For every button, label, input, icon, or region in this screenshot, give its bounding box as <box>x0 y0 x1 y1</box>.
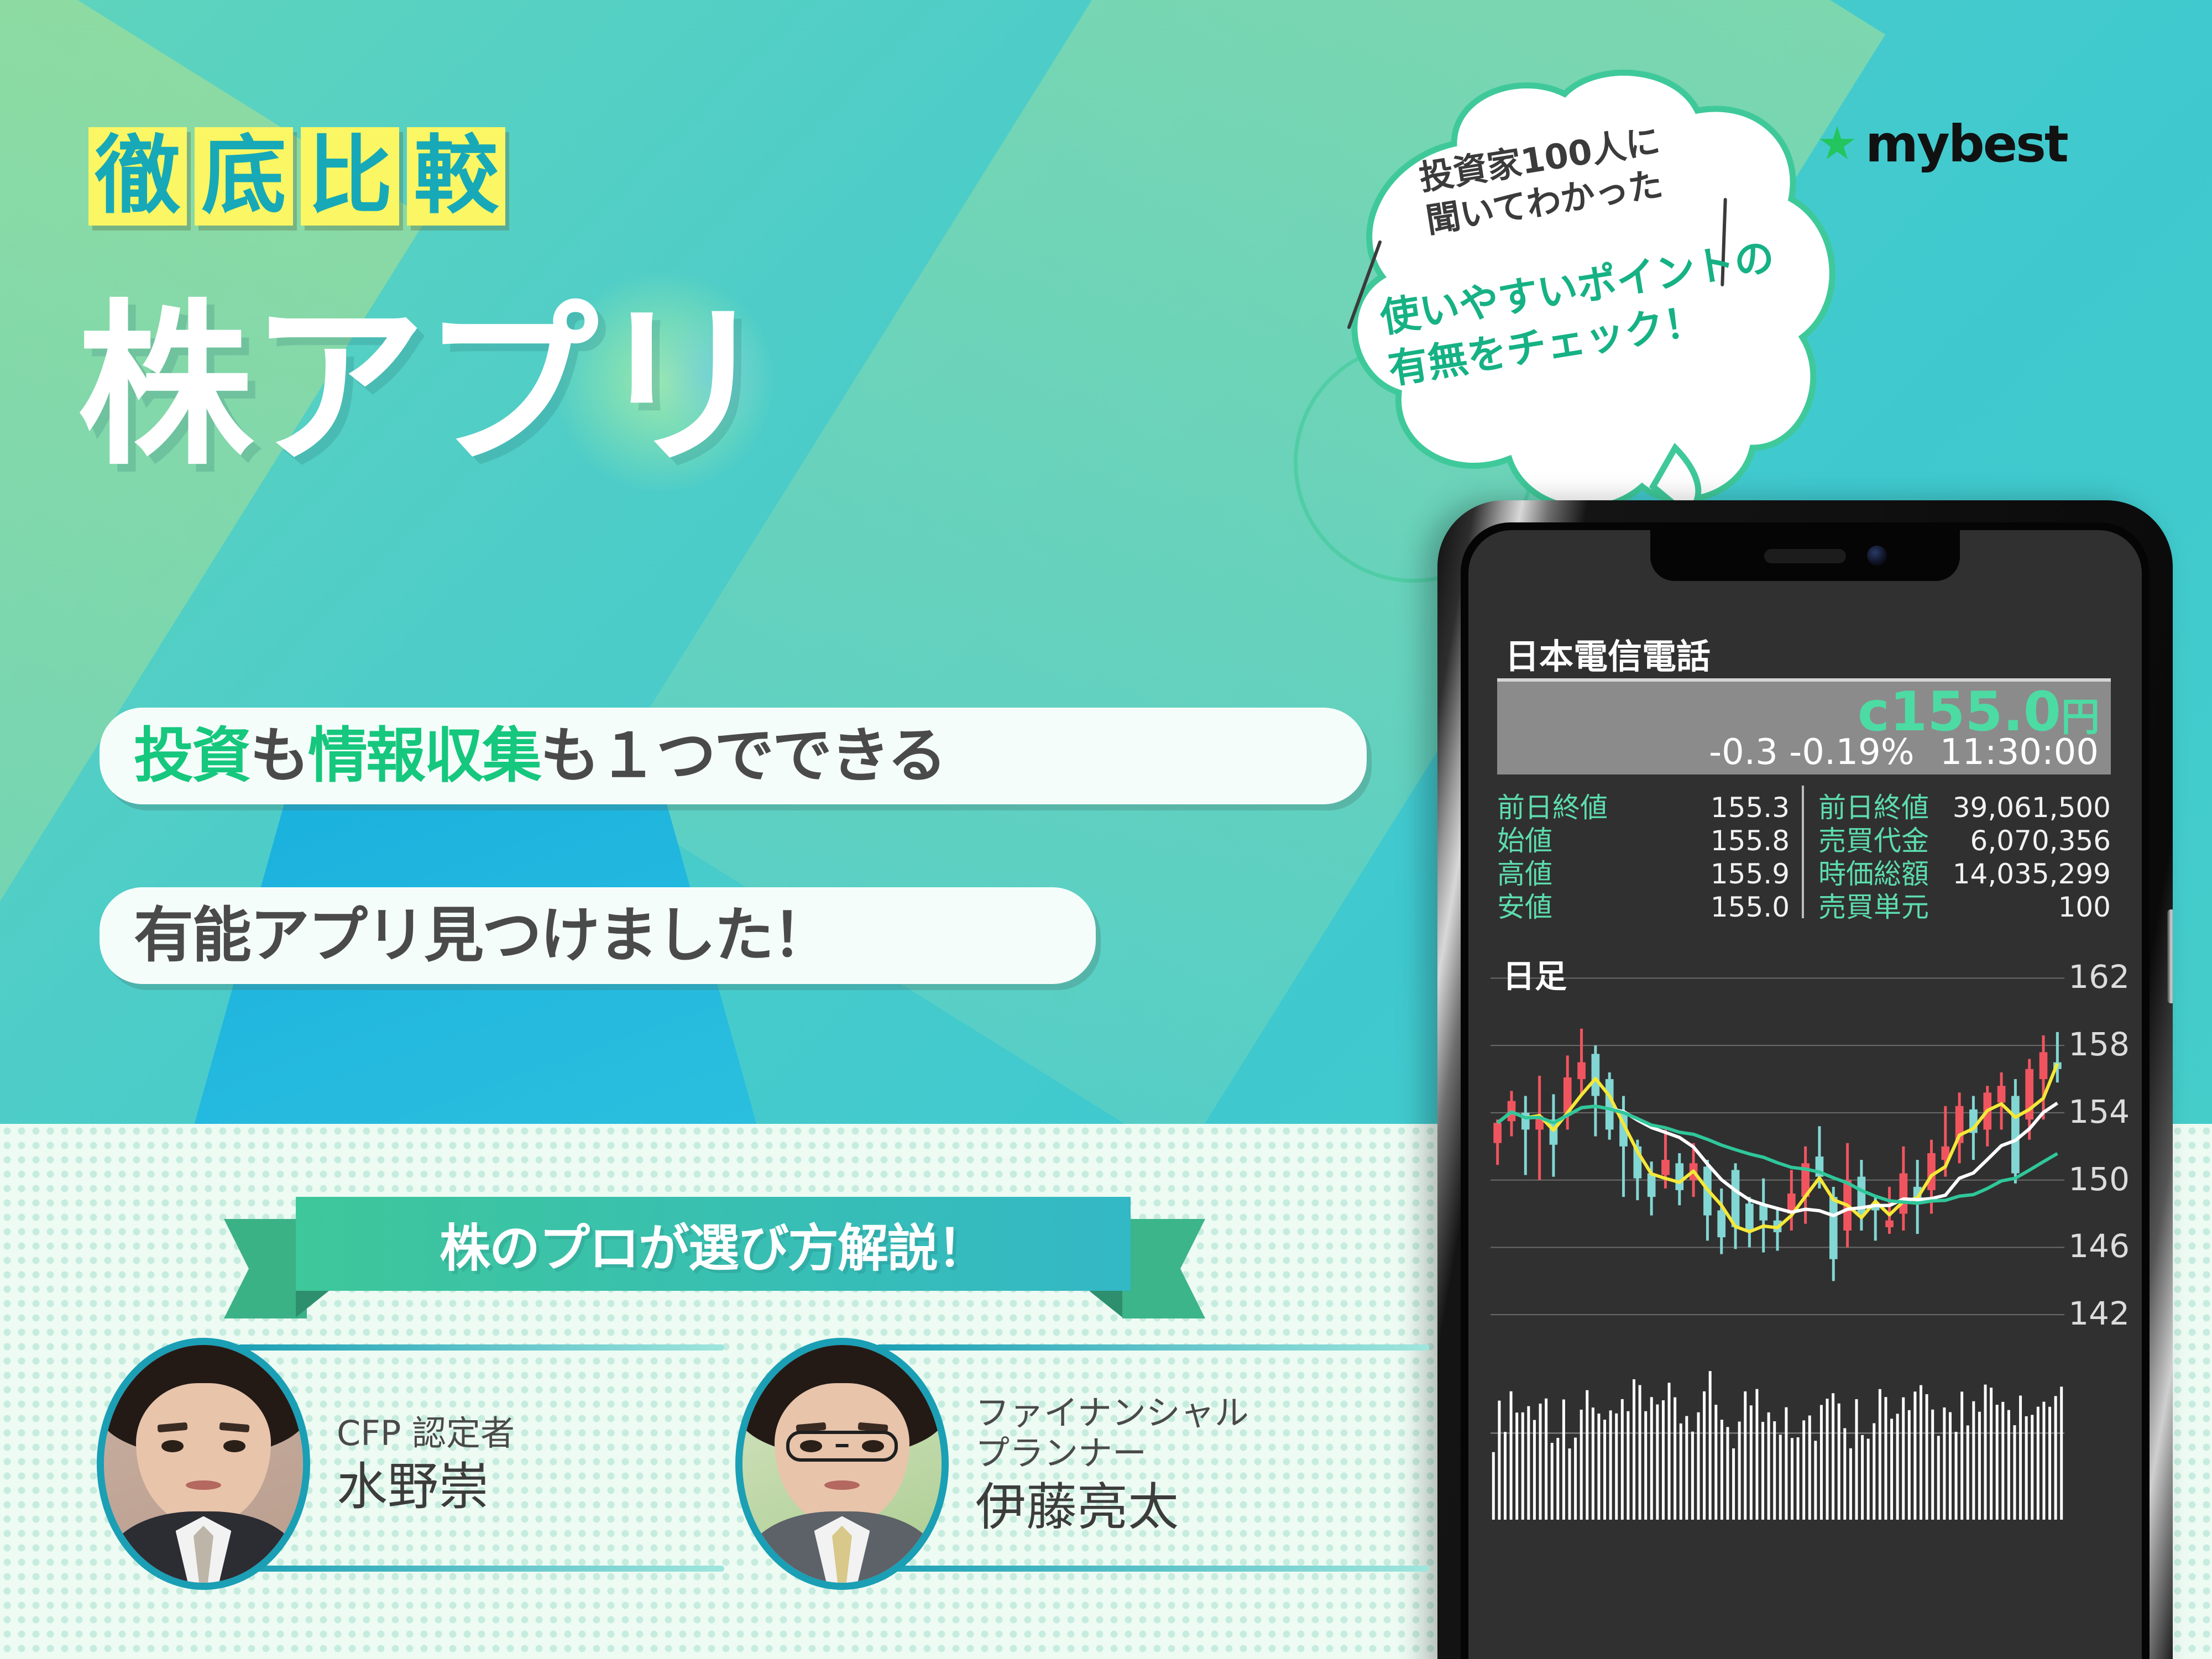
pill1-green-1: 投資 <box>134 721 250 791</box>
phone-mockup: 日本電信電話 c155.0円 -0.3 -0.19%11:30:00 前日終値1… <box>1437 500 2173 1659</box>
chart-title: 日足 <box>1503 950 1567 997</box>
chart-y-tick: 146 <box>2068 1227 2130 1265</box>
stat-key: 売買単元 <box>1818 885 1929 925</box>
expert-1-info: CFP 認定者 水野崇 <box>337 1413 515 1515</box>
stat-value: 14,035,299 <box>1953 858 2111 890</box>
stat-value: 155.8 <box>1711 825 1790 857</box>
front-camera-icon <box>1867 546 1887 566</box>
price-change-pct: -0.19% <box>1789 732 1914 773</box>
price-panel: c155.0円 -0.3 -0.19%11:30:00 <box>1497 678 2111 774</box>
stock-name: 日本電信電話 <box>1505 629 1711 678</box>
pill1-rest: も１つでできる <box>540 721 945 791</box>
price-meta: -0.3 -0.19%11:30:00 <box>1709 735 2099 770</box>
stats-column-left: 前日終値155.3 始値155.8 高値155.9 安値155.0 <box>1497 786 1804 918</box>
subtitle-pill-2: 有能アプリ見つけました！ <box>100 887 1096 984</box>
stat-row: 始値155.8 <box>1497 819 1790 852</box>
stat-row: 売買単元100 <box>1818 885 2111 918</box>
chart-y-tick: 162 <box>2068 958 2130 996</box>
ribbon-text: 株のプロが選び方解説！ <box>296 1197 1131 1291</box>
stat-row: 高値155.9 <box>1497 852 1790 885</box>
expert-1-role: CFP 認定者 <box>337 1413 515 1453</box>
expert-2-role-line-2: プランナー <box>975 1433 1249 1473</box>
stat-row: 時価総額14,035,299 <box>1818 852 2111 885</box>
avatar <box>735 1338 949 1590</box>
stock-stats: 前日終値155.3 始値155.8 高値155.9 安値155.0 前日終値39… <box>1497 786 2111 918</box>
chart-y-tick: 158 <box>2068 1025 2130 1063</box>
stat-row: 安値155.0 <box>1497 885 1790 918</box>
phone-bezel: 日本電信電話 c155.0円 -0.3 -0.19%11:30:00 前日終値1… <box>1461 522 2150 1659</box>
stats-column-right: 前日終値39,061,500 売買代金6,070,356 時価総額14,035,… <box>1804 786 2111 918</box>
poster-root: 徹 底 比 較 株アプリ 投資も情報収集も１つでできる 有能アプリ見つけました！… <box>0 0 2212 1659</box>
ribbon-banner: 株のプロが選び方解説！ <box>296 1197 1131 1291</box>
current-price: c155.0円 <box>1858 685 2100 739</box>
expert-card-1: CFP 認定者 水野崇 <box>97 1338 515 1590</box>
badge-tettei-hikaku: 徹 底 比 較 <box>88 127 505 226</box>
price-change: -0.3 <box>1709 732 1778 773</box>
badge-char-4: 較 <box>407 127 505 226</box>
pill1-mid: も <box>250 721 308 791</box>
subtitle-pill-1: 投資も情報収集も１つでできる <box>100 708 1367 804</box>
badge-char-2: 底 <box>195 127 293 226</box>
stat-row: 前日終値155.3 <box>1497 786 1790 819</box>
phone-notch <box>1650 530 1960 581</box>
phone-side-button[interactable] <box>2167 909 2173 1003</box>
expert-2-info: ファイナンシャル プランナー 伊藤亮太 <box>975 1393 1249 1535</box>
mybest-logo[interactable]: mybest <box>1819 119 2067 170</box>
stat-row: 前日終値39,061,500 <box>1818 786 2111 819</box>
stat-value: 155.9 <box>1711 858 1790 890</box>
expert-1-name: 水野崇 <box>337 1459 515 1515</box>
price-time: 11:30:00 <box>1940 732 2099 773</box>
badge-char-3: 比 <box>301 127 399 226</box>
avatar-eye-right <box>223 1440 245 1452</box>
earpiece-speaker-icon <box>1764 549 1846 563</box>
phone-screen: 日本電信電話 c155.0円 -0.3 -0.19%11:30:00 前日終値1… <box>1468 530 2142 1659</box>
avatar-glasses-icon <box>786 1431 898 1462</box>
subtitle-pill-2-text: 有能アプリ見つけました！ <box>134 906 830 966</box>
stat-value: 155.3 <box>1711 792 1790 824</box>
chart-y-axis: 162158154150146142 <box>2035 928 2134 1564</box>
chart-y-tick: 150 <box>2068 1160 2130 1198</box>
page-title: 株アプリ <box>77 299 767 474</box>
pill1-green-2: 情報収集 <box>308 721 540 791</box>
mybest-wordmark: mybest <box>1865 119 2067 170</box>
chart-y-tick: 154 <box>2068 1093 2130 1131</box>
expert-card-2: ファイナンシャル プランナー 伊藤亮太 <box>735 1338 1249 1590</box>
expert-2-role-line-1: ファイナンシャル <box>975 1393 1249 1433</box>
chart-y-tick: 142 <box>2068 1295 2130 1332</box>
stat-row: 売買代金6,070,356 <box>1818 819 2111 852</box>
stat-key: 安値 <box>1497 885 1552 925</box>
avatar <box>97 1338 310 1590</box>
expert-2-name: 伊藤亮太 <box>975 1479 1249 1535</box>
stat-value: 6,070,356 <box>1970 825 2111 857</box>
subtitle-pill-1-text: 投資も情報収集も１つでできる <box>134 726 945 786</box>
avatar-eye-left <box>161 1440 184 1452</box>
stat-value: 39,061,500 <box>1953 792 2111 824</box>
stat-value: 100 <box>2058 891 2111 923</box>
star-icon <box>1819 126 1855 163</box>
stat-value: 155.0 <box>1711 891 1790 923</box>
badge-char-1: 徹 <box>88 127 187 226</box>
